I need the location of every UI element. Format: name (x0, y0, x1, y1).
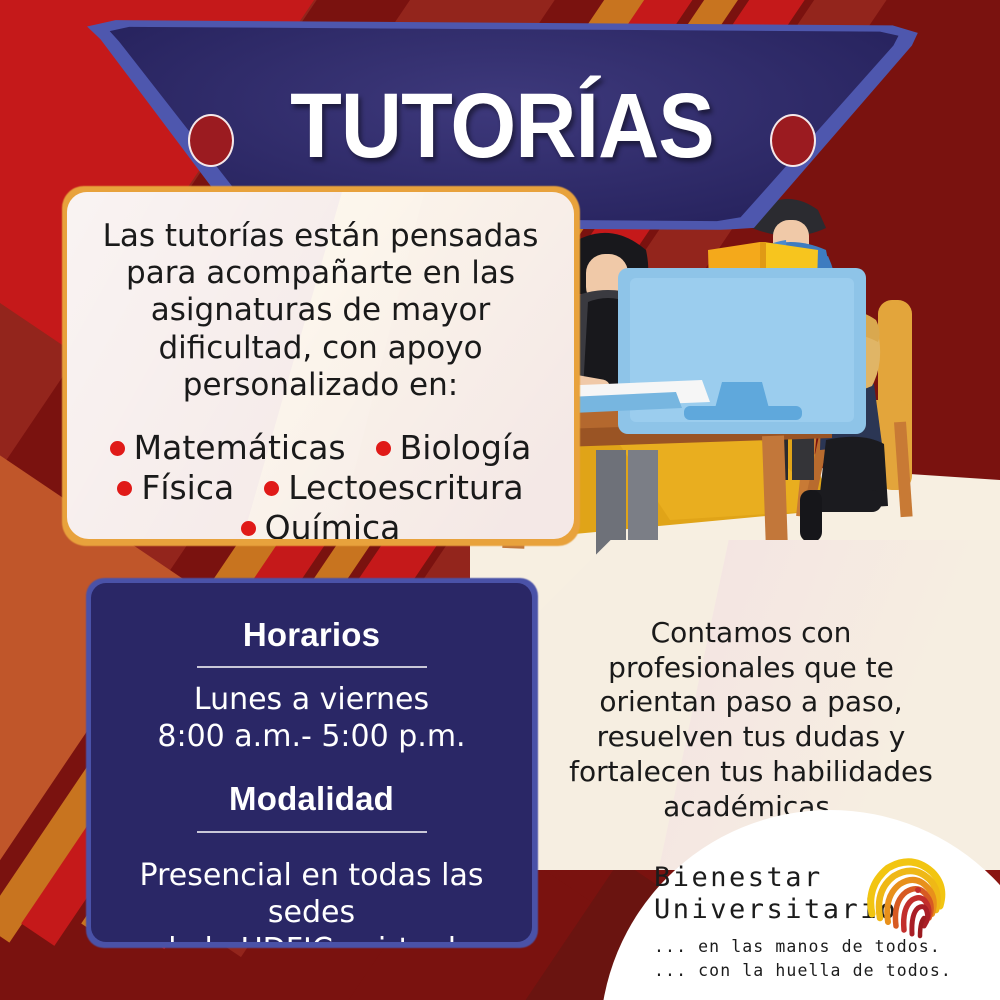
schedule-box: Horarios Lunes a viernes 8:00 a.m.- 5:00… (86, 578, 538, 948)
subject-label: Lectoescritura (288, 468, 523, 508)
subject-label: Física (141, 468, 234, 508)
fingerprint-icon (862, 856, 954, 942)
bullet-dot-icon (241, 521, 256, 536)
subjects-row-1: Matemáticas Biología (83, 428, 558, 468)
list-item: Física (117, 468, 234, 508)
bullet-dot-icon (376, 441, 391, 456)
logo-tagline-2: ... con la huella de todos. (654, 959, 964, 983)
modalidad-divider (197, 831, 427, 833)
subject-label: Biología (400, 428, 532, 468)
horarios-line-2: 8:00 a.m.- 5:00 p.m. (131, 719, 492, 756)
modalidad-heading: Modalidad (131, 781, 492, 817)
subjects-row-3: Química (83, 508, 558, 539)
professionals-panel: Contamos con profesionales que te orient… (498, 540, 1000, 870)
horarios-line-1: Lunes a viernes (131, 682, 492, 719)
list-item: Matemáticas (110, 428, 346, 468)
intro-card-face: Las tutorías están pensadas para acompañ… (67, 192, 574, 539)
professionals-text: Contamos con profesionales que te orient… (556, 616, 946, 824)
modalidad-line-2: de la UDFJCy virtual. (131, 931, 492, 942)
horarios-heading: Horarios (131, 617, 492, 653)
list-item: Química (241, 508, 401, 539)
bullet-dot-icon (117, 481, 132, 496)
poster: TUTORÍAS Las tutorías están pensadas par… (0, 0, 1000, 1000)
modalidad-line-1: Presencial en todas las sedes (131, 857, 492, 931)
horarios-divider (197, 666, 427, 668)
bullet-dot-icon (110, 441, 125, 456)
subject-label: Matemáticas (134, 428, 346, 468)
intro-card: Las tutorías están pensadas para acompañ… (62, 186, 580, 546)
bullet-dot-icon (264, 481, 279, 496)
page-title: TUTORÍAS (116, 80, 889, 172)
subject-label: Química (265, 508, 401, 539)
subjects-list: Matemáticas Biología Física Lectoescritu… (83, 428, 558, 539)
list-item: Biología (376, 428, 532, 468)
subjects-row-2: Física Lectoescritura (83, 468, 558, 508)
schedule-box-face: Horarios Lunes a viernes 8:00 a.m.- 5:00… (91, 583, 532, 942)
intro-paragraph: Las tutorías están pensadas para acompañ… (83, 218, 558, 404)
list-item: Lectoescritura (264, 468, 523, 508)
